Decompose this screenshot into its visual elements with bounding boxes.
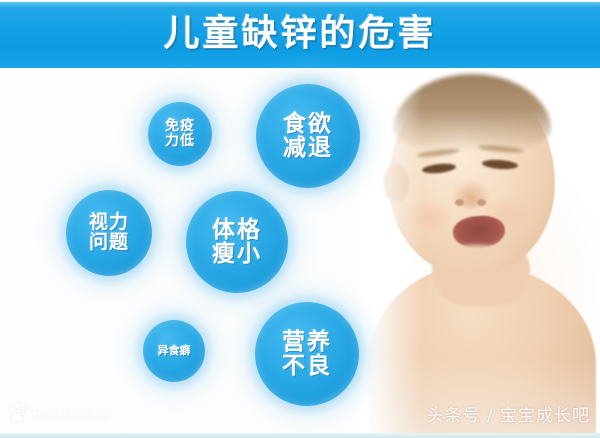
baby-illustration (360, 68, 600, 438)
baidu-watermark-cn: 百度 (79, 405, 111, 423)
baby-chin (434, 244, 520, 280)
bubble-malnutrition: 营养 不良 (255, 302, 359, 406)
bubble-physique: 体格 瘦小 (186, 191, 288, 293)
bubble-pica: 异食癖 (143, 320, 205, 382)
poster-canvas: 儿童缺锌的危害 免疫 力低 (0, 0, 600, 438)
baby-hair (393, 74, 551, 152)
toutiao-watermark: 头条号 / 宝宝成长吧 (426, 401, 590, 426)
baby-ear (383, 164, 409, 202)
baidu-watermark: Baidu百度 (6, 402, 111, 424)
title-banner: 儿童缺锌的危害 (0, 2, 600, 68)
bubble-vision-line-2: 问题 (89, 233, 129, 253)
bubble-immunity-line-2: 力低 (165, 134, 195, 149)
baby-nostril-left (455, 199, 464, 206)
bubble-malnutrition-line-1: 营养 (282, 330, 332, 354)
bubble-malnutrition-line-2: 不良 (282, 354, 332, 378)
baby-nostril-right (477, 199, 486, 206)
bottom-strip (0, 433, 600, 438)
bubble-vision: 视力 问题 (66, 190, 152, 276)
bubble-physique-line-1: 体格 (212, 218, 262, 242)
bubble-physique-line-2: 瘦小 (212, 242, 262, 266)
paw-icon (6, 402, 28, 424)
bubble-immunity-line-1: 免疫 (165, 119, 195, 134)
baby-photo (360, 68, 600, 438)
baidu-watermark-latin: Baidu (31, 405, 79, 423)
bubble-appetite-line-2: 减退 (283, 136, 333, 160)
symptom-bubble-group: 免疫 力低 食欲 减退 视力 问题 体格 瘦小 异食癖 (0, 68, 380, 438)
bubble-pica-line-1: 异食癖 (158, 345, 191, 357)
bubble-appetite-line-1: 食欲 (283, 112, 333, 136)
baby-cheek-left (406, 200, 452, 234)
bubble-vision-line-1: 视力 (89, 213, 129, 233)
page-title: 儿童缺锌的危害 (163, 16, 436, 52)
bubble-immunity: 免疫 力低 (148, 102, 212, 166)
bubble-appetite: 食欲 减退 (256, 84, 360, 188)
